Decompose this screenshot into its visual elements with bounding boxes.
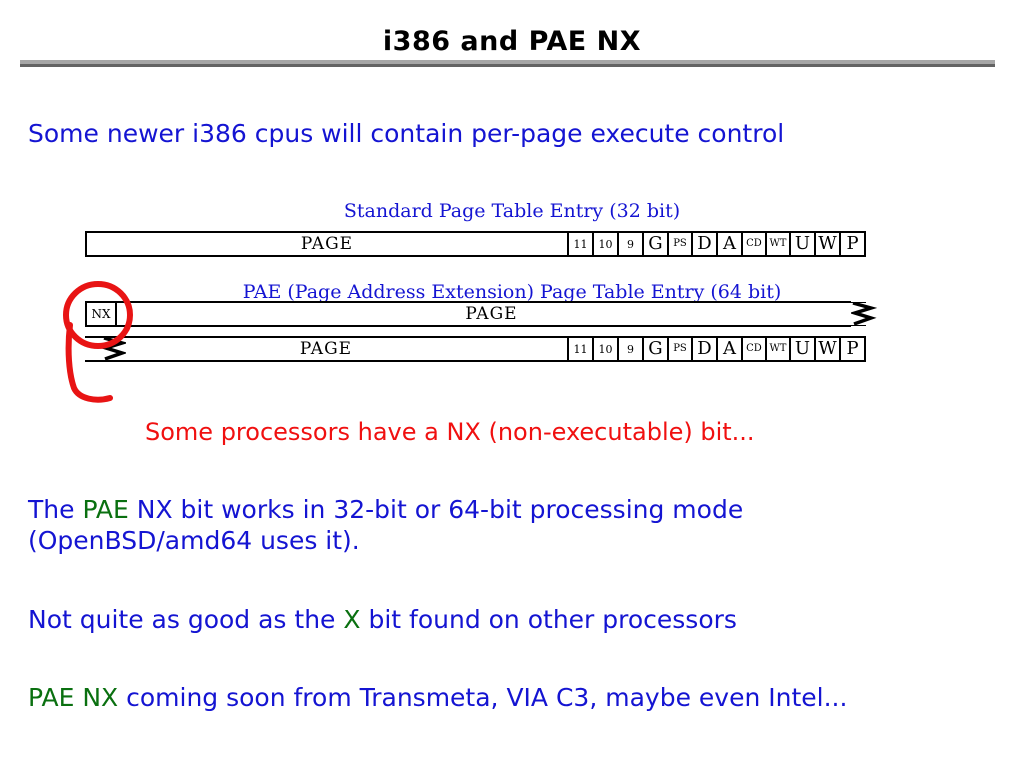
pte-page-field: PAGE	[87, 233, 567, 255]
pte-bit-a: A	[716, 233, 741, 255]
pae-bit-p: P	[839, 338, 864, 360]
page-break-zigzag-icon	[100, 334, 126, 364]
coming-soon-text: PAE NX coming soon from Transmeta, VIA C…	[28, 682, 847, 713]
pae-high-page-field: PAGE	[115, 303, 866, 325]
pte-bit-p: P	[839, 233, 864, 255]
standard-pte-row: PAGE 11 10 9 G PS D A CD WT U W P	[85, 231, 866, 257]
pae-bit-a: A	[716, 338, 741, 360]
coming-soon-suffix: coming soon from Transmeta, VIA C3, mayb…	[118, 683, 847, 712]
page-break-zigzag-icon	[851, 299, 877, 329]
nx-bit-note: Some processors have a NX (non-executabl…	[145, 418, 755, 446]
pae-pte-high-row: NX PAGE	[85, 301, 866, 327]
pae-bit-cd: CD	[741, 338, 765, 360]
pae-bit-w: W	[814, 338, 839, 360]
pte-bit-u: U	[789, 233, 814, 255]
pte-bit-11: 11	[567, 233, 592, 255]
x-bit-keyword: X	[343, 605, 360, 634]
intro-text: Some newer i386 cpus will contain per-pa…	[28, 118, 784, 149]
pae-bit-9: 9	[617, 338, 642, 360]
pae-keyword: PAE	[82, 495, 128, 524]
not-quite-text: Not quite as good as the X bit found on …	[28, 604, 737, 635]
pae-low-page-field: PAGE	[85, 338, 567, 360]
pae-bit-10: 10	[592, 338, 617, 360]
pae-bit-wt: WT	[765, 338, 789, 360]
pte-bit-ps: PS	[667, 233, 691, 255]
pae-nx-keyword: PAE NX	[28, 683, 118, 712]
pte-bit-10: 10	[592, 233, 617, 255]
title-divider	[20, 60, 995, 67]
pte-bit-w: W	[814, 233, 839, 255]
pte-bit-cd: CD	[741, 233, 765, 255]
pae-nx-bit-cell: NX	[87, 303, 115, 325]
pte-bit-wt: WT	[765, 233, 789, 255]
not-quite-prefix: Not quite as good as the	[28, 605, 343, 634]
not-quite-suffix: bit found on other processors	[361, 605, 737, 634]
pae-bit-d: D	[691, 338, 716, 360]
standard-pte-caption: Standard Page Table Entry (32 bit)	[0, 200, 1024, 222]
title-divider-dark	[20, 64, 995, 67]
pte-bit-9: 9	[617, 233, 642, 255]
pae-bit-g: G	[642, 338, 667, 360]
pte-bit-g: G	[642, 233, 667, 255]
page-title: i386 and PAE NX	[0, 28, 1024, 55]
pte-bit-d: D	[691, 233, 716, 255]
pae-pte-low-row: PAGE 11 10 9 G PS D A CD WT U W P	[85, 336, 866, 362]
pae-works-rest: NX bit works in 32-bit or 64-bit process…	[28, 495, 743, 555]
pae-bit-ps: PS	[667, 338, 691, 360]
pae-works-prefix: The	[28, 495, 82, 524]
pae-bit-u: U	[789, 338, 814, 360]
pae-works-text: The PAE NX bit works in 32-bit or 64-bit…	[28, 494, 928, 557]
pae-bit-11: 11	[567, 338, 592, 360]
